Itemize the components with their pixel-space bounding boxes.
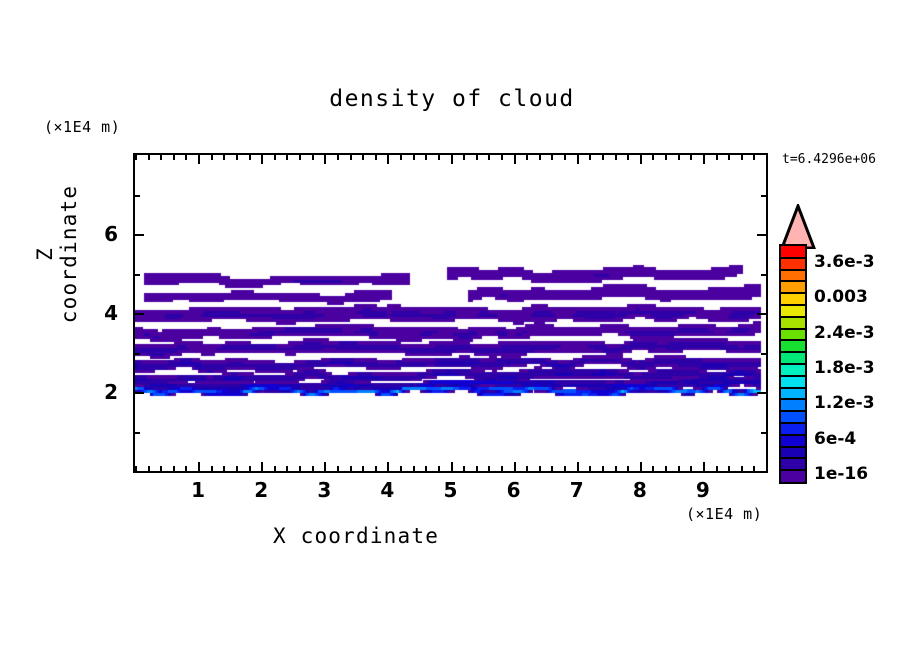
- x-tick: [551, 466, 553, 471]
- x-tick-top: [741, 155, 743, 160]
- x-tick: [564, 466, 566, 471]
- x-tick: [135, 466, 137, 471]
- x-tick: [539, 466, 541, 471]
- contour-field: [135, 155, 766, 471]
- x-tick: [678, 466, 680, 471]
- x-tick-top: [615, 155, 617, 160]
- x-tick: [211, 466, 213, 471]
- colorbar-band-divider: [781, 375, 805, 377]
- x-tick: [337, 466, 339, 471]
- x-tick: [766, 466, 768, 471]
- y-tick-right: [757, 313, 766, 315]
- x-tick-top: [514, 155, 516, 164]
- y-axis-title: Z coordinate: [33, 174, 81, 334]
- x-tick: [299, 466, 301, 471]
- x-tick-top: [148, 155, 150, 160]
- x-tick-top: [286, 155, 288, 160]
- x-tick: [387, 462, 389, 471]
- x-tick: [198, 462, 200, 471]
- x-tick: [728, 466, 730, 471]
- x-tick-top: [299, 155, 301, 160]
- x-tick-top: [564, 155, 566, 160]
- x-tick: [602, 466, 604, 471]
- x-tick: [249, 466, 251, 471]
- x-tick: [652, 466, 654, 471]
- x-tick: [476, 466, 478, 471]
- x-tick-top: [198, 155, 200, 164]
- x-tick-top: [589, 155, 591, 160]
- x-tick: [501, 466, 503, 471]
- y-tick: [135, 313, 144, 315]
- colorbar-band-divider: [781, 387, 805, 389]
- x-tick-top: [400, 155, 402, 160]
- x-tick-top: [526, 155, 528, 160]
- colorbar-band-divider: [781, 351, 805, 353]
- x-tick-top: [451, 155, 453, 164]
- x-tick-top: [678, 155, 680, 160]
- x-tick-label: 5: [444, 478, 458, 502]
- y-tick-right: [757, 234, 766, 236]
- x-tick: [640, 462, 642, 471]
- x-tick-label: 2: [254, 478, 268, 502]
- colorbar-band-divider: [781, 410, 805, 412]
- colorbar-band-divider: [781, 422, 805, 424]
- x-tick-top: [324, 155, 326, 164]
- x-tick-top: [703, 155, 705, 164]
- plot-area[interactable]: [133, 153, 768, 473]
- x-tick: [615, 466, 617, 471]
- colorbar-tick-label: 1.8e-3: [814, 358, 875, 378]
- x-tick-top: [728, 155, 730, 160]
- y-tick-right: [761, 432, 766, 434]
- x-tick-label: 6: [507, 478, 521, 502]
- x-tick-top: [602, 155, 604, 160]
- x-tick-top: [261, 155, 263, 164]
- x-tick-top: [438, 155, 440, 160]
- x-tick: [185, 466, 187, 471]
- colorbar-tick-label: 3.6e-3: [814, 252, 875, 272]
- colorbar-band-divider: [781, 257, 805, 259]
- x-tick-top: [173, 155, 175, 160]
- x-tick-top: [362, 155, 364, 160]
- x-tick-top: [160, 155, 162, 160]
- x-tick-top: [753, 155, 755, 160]
- x-tick-top: [627, 155, 629, 160]
- colorbar-over-arrow-icon: [778, 204, 818, 249]
- x-tick: [577, 462, 579, 471]
- x-tick-top: [387, 155, 389, 164]
- x-tick-label: 4: [380, 478, 394, 502]
- x-tick-top: [501, 155, 503, 160]
- x-tick-top: [223, 155, 225, 160]
- x-tick-top: [413, 155, 415, 160]
- colorbar-tick-label: 1e-16: [814, 464, 868, 484]
- y-tick-right: [757, 392, 766, 394]
- x-tick-top: [312, 155, 314, 160]
- x-tick: [514, 462, 516, 471]
- x-tick: [350, 466, 352, 471]
- x-tick: [160, 466, 162, 471]
- x-tick-top: [185, 155, 187, 160]
- colorbar-bands[interactable]: [779, 244, 807, 484]
- x-tick: [400, 466, 402, 471]
- x-tick: [589, 466, 591, 471]
- x-tick-top: [766, 155, 768, 160]
- x-tick: [665, 466, 667, 471]
- x-tick-label: 1: [191, 478, 205, 502]
- x-tick: [438, 466, 440, 471]
- y-tick: [135, 392, 144, 394]
- x-tick: [274, 466, 276, 471]
- colorbar-tick-label: 2.4e-3: [814, 323, 875, 343]
- x-tick-top: [236, 155, 238, 160]
- colorbar-band-divider: [781, 398, 805, 400]
- x-tick: [526, 466, 528, 471]
- x-axis-title: X coordinate: [0, 524, 712, 548]
- colorbar-band-divider: [781, 280, 805, 282]
- x-tick: [488, 466, 490, 471]
- x-tick: [451, 462, 453, 471]
- y-tick: [135, 432, 140, 434]
- x-tick: [627, 466, 629, 471]
- colorbar-band-divider: [781, 457, 805, 459]
- x-tick-top: [716, 155, 718, 160]
- x-tick: [463, 466, 465, 471]
- colorbar-band-divider: [781, 469, 805, 471]
- colorbar-band-divider: [781, 328, 805, 330]
- contour-plot-clip: [135, 155, 766, 471]
- x-tick-top: [551, 155, 553, 160]
- colorbar[interactable]: 1e-166e-41.2e-31.8e-32.4e-30.0033.6e-3: [770, 200, 904, 492]
- x-axis-unit-label: (×1E4 m): [686, 505, 762, 523]
- colorbar-band-divider: [781, 292, 805, 294]
- x-tick-top: [375, 155, 377, 160]
- y-tick: [135, 274, 140, 276]
- x-tick: [362, 466, 364, 471]
- x-tick: [741, 466, 743, 471]
- page-title: density of cloud: [0, 86, 904, 112]
- x-tick-top: [476, 155, 478, 160]
- x-tick-top: [249, 155, 251, 160]
- colorbar-band-divider: [781, 269, 805, 271]
- x-tick-top: [211, 155, 213, 160]
- x-tick-top: [135, 155, 137, 160]
- x-tick: [753, 466, 755, 471]
- x-tick: [703, 462, 705, 471]
- x-tick-label: 8: [633, 478, 647, 502]
- timestamp-annotation: t=6.4296e+06: [782, 152, 876, 167]
- y-tick-label: 2: [0, 380, 118, 404]
- colorbar-band-divider: [781, 363, 805, 365]
- x-tick: [261, 462, 263, 471]
- x-tick: [312, 466, 314, 471]
- x-tick-top: [350, 155, 352, 160]
- y-axis-unit-label: (×1E4 m): [44, 118, 120, 136]
- x-tick: [236, 466, 238, 471]
- x-tick-top: [690, 155, 692, 160]
- x-tick-top: [665, 155, 667, 160]
- x-tick-top: [337, 155, 339, 160]
- y-tick-right: [761, 353, 766, 355]
- colorbar-band-divider: [781, 316, 805, 318]
- colorbar-tick-label: 1.2e-3: [814, 393, 875, 413]
- x-tick: [413, 466, 415, 471]
- x-tick-top: [274, 155, 276, 160]
- x-tick: [716, 466, 718, 471]
- colorbar-band-divider: [781, 339, 805, 341]
- x-tick: [223, 466, 225, 471]
- x-tick: [324, 462, 326, 471]
- x-tick-top: [488, 155, 490, 160]
- y-tick: [135, 234, 144, 236]
- x-tick: [286, 466, 288, 471]
- y-tick: [135, 353, 140, 355]
- x-tick-top: [425, 155, 427, 160]
- colorbar-tick-label: 0.003: [814, 287, 868, 307]
- colorbar-tick-label: 6e-4: [814, 429, 856, 449]
- colorbar-band-divider: [781, 446, 805, 448]
- x-tick-top: [539, 155, 541, 160]
- x-tick-top: [652, 155, 654, 160]
- y-tick: [135, 195, 140, 197]
- y-tick-right: [761, 195, 766, 197]
- x-tick-top: [640, 155, 642, 164]
- x-tick-label: 7: [570, 478, 584, 502]
- x-tick: [173, 466, 175, 471]
- y-tick-right: [761, 274, 766, 276]
- colorbar-band[interactable]: [781, 470, 805, 482]
- x-tick: [148, 466, 150, 471]
- x-tick: [375, 466, 377, 471]
- x-tick: [425, 466, 427, 471]
- x-tick-top: [577, 155, 579, 164]
- x-tick-label: 9: [696, 478, 710, 502]
- x-tick-top: [463, 155, 465, 160]
- x-tick-label: 3: [317, 478, 331, 502]
- colorbar-band-divider: [781, 434, 805, 436]
- x-tick: [690, 466, 692, 471]
- colorbar-band-divider: [781, 304, 805, 306]
